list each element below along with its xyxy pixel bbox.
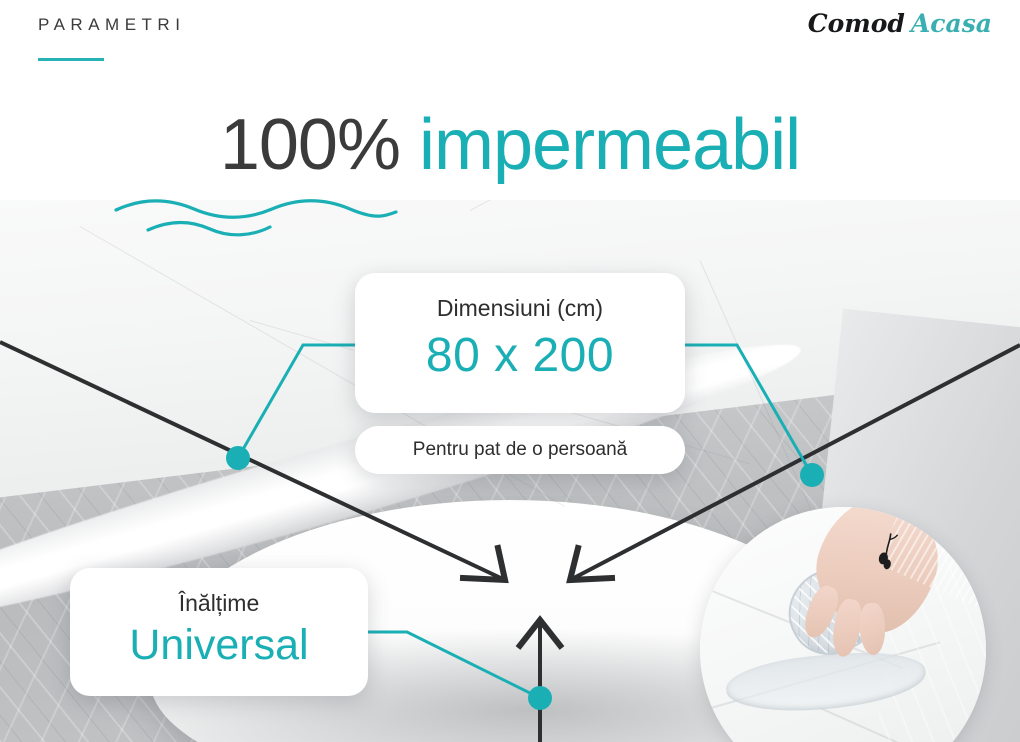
- height-card-title: Înălțime: [70, 590, 368, 617]
- measure-dot-right: [800, 463, 824, 487]
- page-title-highlight: impermeabil: [419, 105, 800, 185]
- brand-logo: ComodAcasa: [808, 9, 992, 38]
- bed-type-badge-text: Pentru pat de o persoană: [413, 439, 627, 461]
- brand-logo-secondary: Acasa: [911, 9, 992, 38]
- bed-type-badge: Pentru pat de o persoană: [355, 426, 685, 474]
- height-card-value: Universal: [70, 621, 368, 670]
- water-wave-icon: [112, 196, 402, 240]
- dimensions-card-title: Dimensiuni (cm): [355, 295, 685, 322]
- height-card: Înălțime Universal: [70, 568, 368, 696]
- infographic-page: PARAMETRI ComodAcasa 100% impermeabil: [0, 0, 1020, 742]
- brand-logo-primary: Comod: [808, 9, 905, 38]
- section-label-underline: [38, 58, 104, 61]
- water-pour-demo-photo: [700, 507, 986, 742]
- dimensions-card: Dimensiuni (cm) 80 x 200: [355, 273, 685, 413]
- measure-dot-left: [226, 446, 250, 470]
- page-title: 100% impermeabil: [0, 104, 1020, 186]
- section-label: PARAMETRI: [38, 15, 185, 35]
- page-header: PARAMETRI ComodAcasa: [0, 0, 1020, 95]
- page-title-prefix: 100%: [220, 105, 400, 185]
- measure-dot-height: [528, 686, 552, 710]
- dimensions-card-value: 80 x 200: [355, 328, 685, 383]
